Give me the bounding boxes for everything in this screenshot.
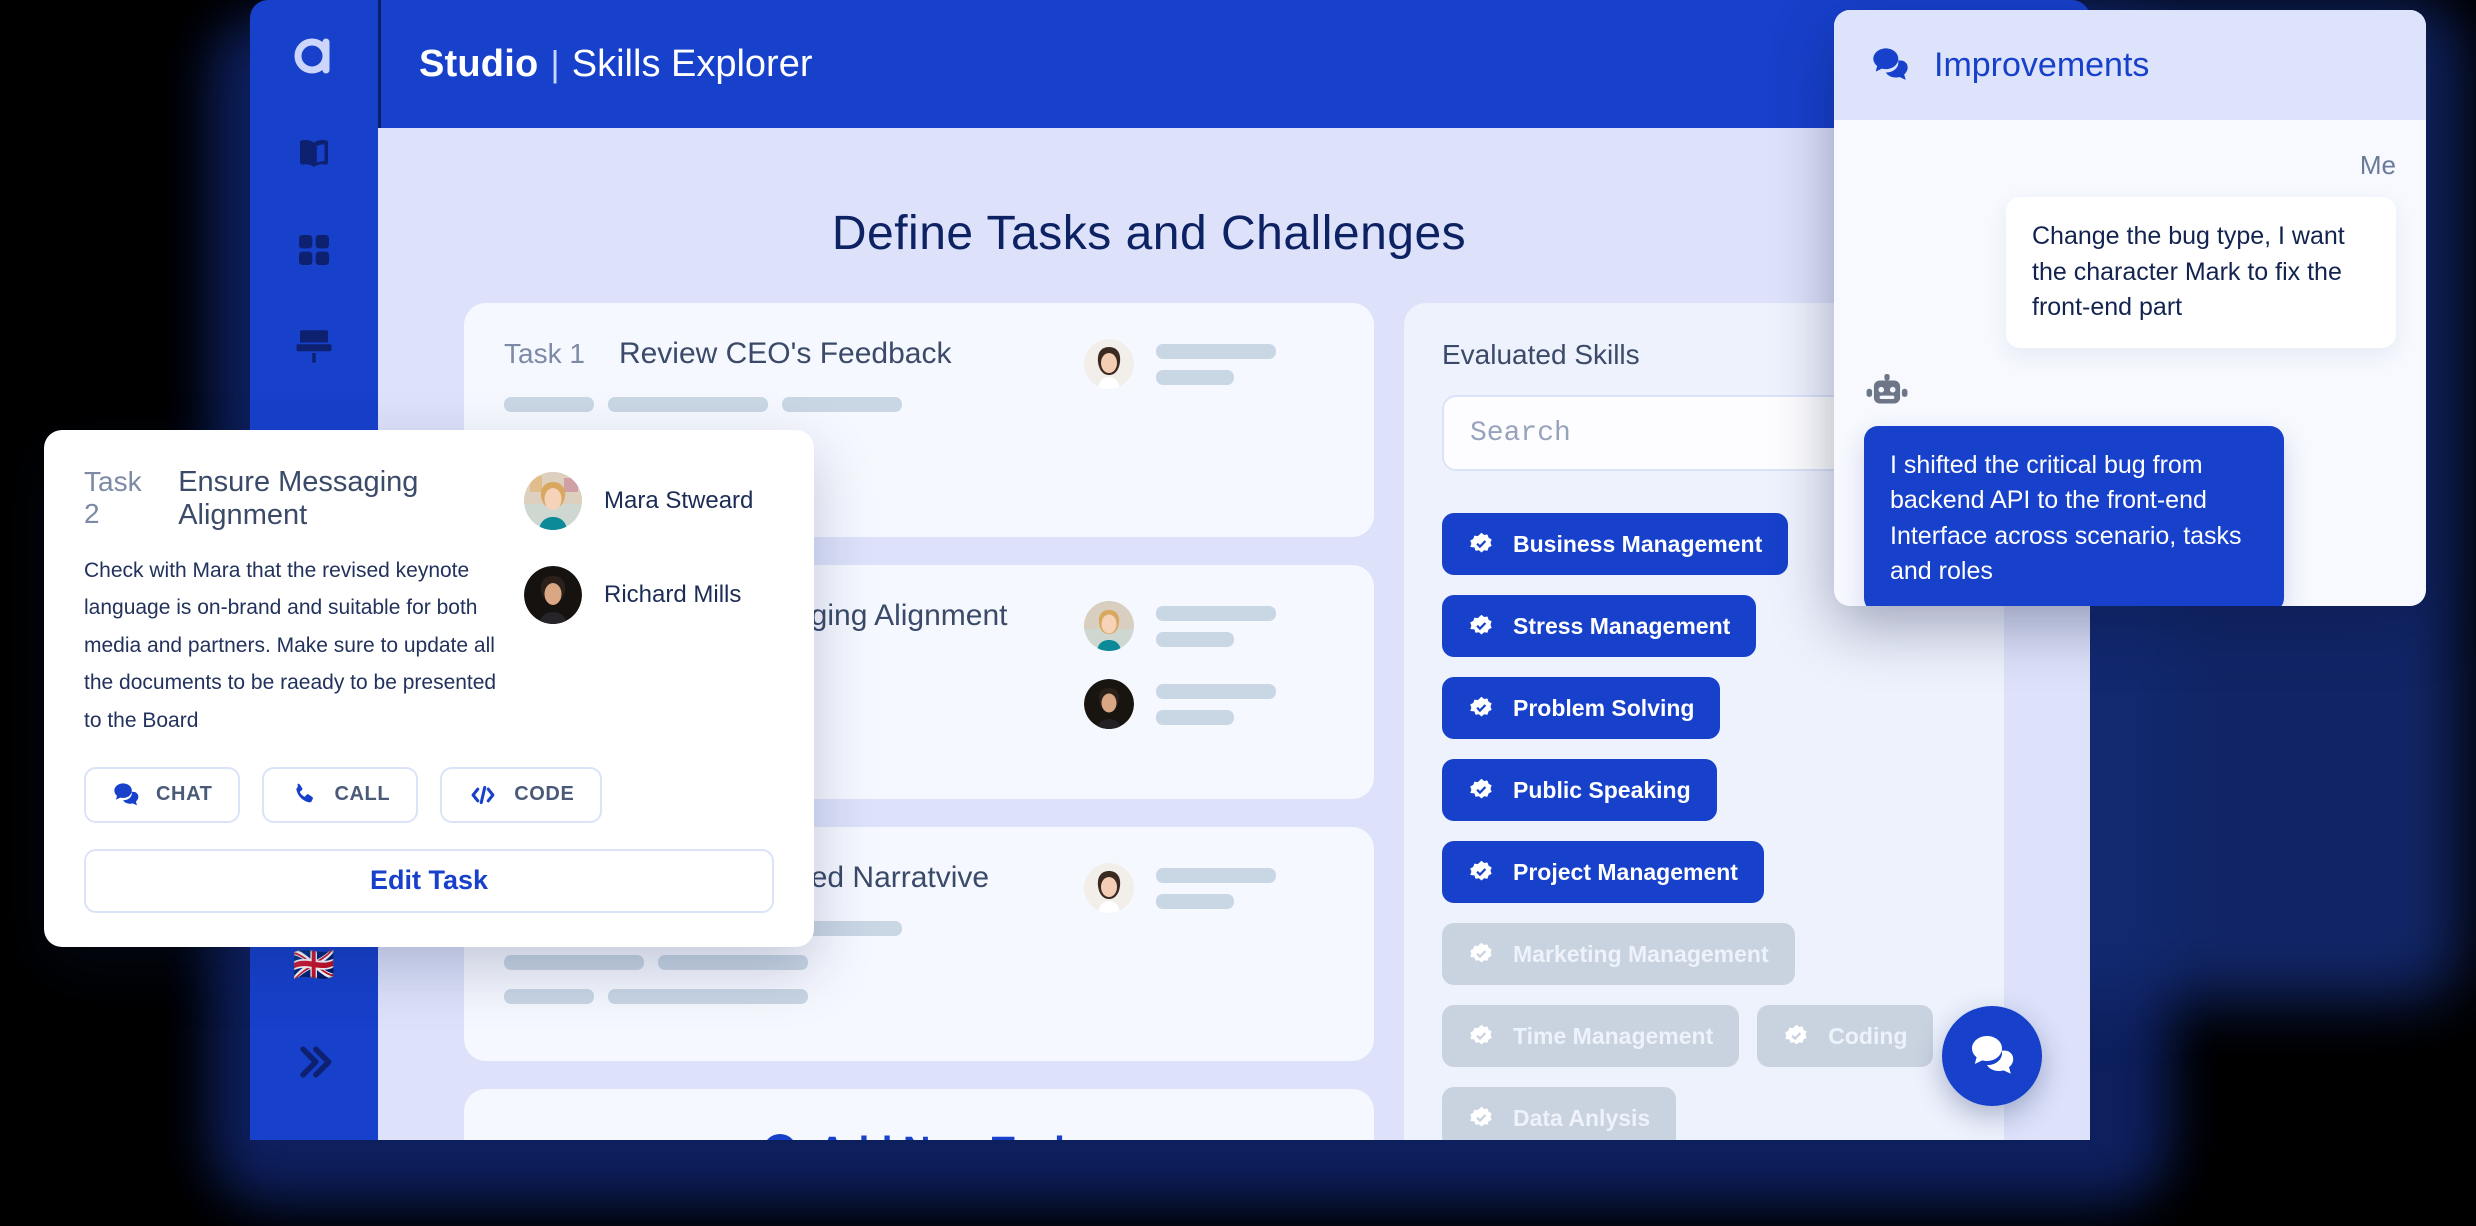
badge-check-icon (1468, 695, 1495, 722)
skill-tag-label: Public Speaking (1513, 777, 1691, 804)
sidebar-item-book[interactable] (290, 130, 338, 178)
skill-tag-list: Business Management Stress Management Pr… (1442, 513, 1966, 1140)
plus-circle-icon: + (763, 1134, 797, 1140)
skill-tag[interactable]: Public Speaking (1442, 759, 1717, 821)
skill-tag-label: Project Management (1513, 859, 1738, 886)
badge-check-icon (1468, 531, 1495, 558)
task-detail-popup: Task 2 Ensure Messaging Alignment Check … (44, 430, 814, 947)
assignee[interactable] (1084, 679, 1334, 729)
section-title: Skills Explorer (572, 43, 813, 86)
skill-tag-label: Problem Solving (1513, 695, 1694, 722)
improvements-title: Improvements (1934, 46, 2149, 85)
skill-tag-label: Coding (1828, 1023, 1907, 1050)
phone-icon (290, 781, 318, 809)
popup-description: Check with Mara that the revised keynote… (84, 552, 504, 739)
skill-tag-label: Marketing Management (1513, 941, 1769, 968)
call-button-label: CALL (334, 783, 390, 806)
badge-check-icon (1468, 1023, 1495, 1050)
skill-tag[interactable]: Business Management (1442, 513, 1788, 575)
title-separator: | (550, 43, 559, 85)
avatar (524, 472, 582, 530)
skill-tag[interactable]: Time Management (1442, 1005, 1739, 1067)
app-name: Studio (419, 43, 538, 86)
task-assignees (1084, 599, 1334, 729)
chat-bubbles-icon (1868, 45, 1912, 85)
task-title: Review CEO's Feedback (619, 337, 952, 371)
call-button[interactable]: CALL (262, 767, 418, 823)
chat-bubbles-icon (112, 781, 140, 809)
avatar (524, 566, 582, 624)
popup-header: Task 2 Ensure Messaging Alignment (84, 466, 504, 532)
popup-people-list: Mara Stweard Richard Mills (524, 466, 774, 739)
assignee-skeleton (1156, 684, 1276, 725)
assignee-skeleton (1156, 606, 1276, 647)
assignee-skeleton (1156, 344, 1276, 385)
search-placeholder: Search (1470, 418, 1571, 449)
sidebar-bottom: 🇬🇧 (250, 948, 378, 1086)
badge-check-icon (1783, 1023, 1810, 1050)
skill-tag-label: Business Management (1513, 531, 1762, 558)
uk-flag-icon[interactable]: 🇬🇧 (293, 948, 335, 982)
skill-tag-label: Stress Management (1513, 613, 1730, 640)
robot-icon (1864, 374, 1910, 410)
chat-fab-button[interactable] (1942, 1006, 2042, 1106)
edit-task-button[interactable]: Edit Task (84, 849, 774, 913)
assignee[interactable] (1084, 863, 1334, 913)
assignee-skeleton (1156, 868, 1276, 909)
code-brackets-icon (468, 781, 498, 809)
improvements-header: Improvements (1834, 10, 2426, 120)
task-assignees (1084, 337, 1334, 389)
sidebar-item-paintbrush[interactable] (290, 322, 338, 370)
code-button-label: CODE (514, 783, 574, 806)
task-header: Task 1 Review CEO's Feedback (504, 337, 1084, 371)
task-assignees (1084, 861, 1334, 913)
badge-check-icon (1468, 613, 1495, 640)
popup-task-number: Task 2 (84, 466, 154, 530)
popup-task-title: Ensure Messaging Alignment (178, 466, 504, 532)
popup-main: Task 2 Ensure Messaging Alignment Check … (84, 466, 524, 739)
chat-button[interactable]: CHAT (84, 767, 240, 823)
badge-check-icon (1468, 777, 1495, 804)
skill-tag-label: Time Management (1513, 1023, 1713, 1050)
skill-tag[interactable]: Problem Solving (1442, 677, 1720, 739)
skill-tag[interactable]: Stress Management (1442, 595, 1756, 657)
message-author-me: Me (1864, 150, 2396, 181)
improvements-panel: Improvements Me Change the bug type, I w… (1834, 10, 2426, 606)
badge-check-icon (1468, 859, 1495, 886)
person-name: Richard Mills (604, 581, 741, 609)
badge-check-icon (1468, 941, 1495, 968)
assignee[interactable] (1084, 601, 1334, 651)
code-button[interactable]: CODE (440, 767, 602, 823)
avatar (1084, 863, 1134, 913)
avatar (1084, 601, 1134, 651)
app-logo[interactable] (280, 22, 348, 90)
screenshot-stage: 🇬🇧 Studio | Skills Explorer Define Tasks… (0, 0, 2476, 1226)
list-item[interactable]: Richard Mills (524, 566, 774, 624)
person-name: Mara Stweard (604, 487, 753, 515)
skill-tag[interactable]: Marketing Management (1442, 923, 1795, 985)
skill-tag[interactable]: Coding (1757, 1005, 1933, 1067)
chat-bubbles-icon (1966, 1032, 2018, 1080)
sidebar-nav (290, 130, 338, 370)
skill-tag-label: Data Anlysis (1513, 1105, 1650, 1132)
assignee[interactable] (1084, 339, 1334, 389)
chat-bubble-user: Change the bug type, I want the characte… (2006, 197, 2396, 348)
task-number: Task 1 (504, 338, 585, 370)
popup-top-row: Task 2 Ensure Messaging Alignment Check … (84, 466, 774, 739)
chat-button-label: CHAT (156, 783, 212, 806)
add-task-label: Add New Task (819, 1130, 1076, 1141)
chevrons-right-icon[interactable] (290, 1038, 338, 1086)
avatar (1084, 679, 1134, 729)
list-item[interactable]: Mara Stweard (524, 472, 774, 530)
avatar (1084, 339, 1134, 389)
chat-messages: Me Change the bug type, I want the chara… (1834, 120, 2426, 606)
badge-check-icon (1468, 1105, 1495, 1132)
popup-actions: CHAT CALL CODE (84, 767, 774, 823)
chat-bubble-bot: I shifted the critical bug from backend … (1864, 426, 2284, 607)
sidebar-item-grid[interactable] (290, 226, 338, 274)
add-task-button[interactable]: + Add New Task (464, 1089, 1374, 1140)
skill-tag[interactable]: Project Management (1442, 841, 1764, 903)
skill-tag[interactable]: Data Anlysis (1442, 1087, 1676, 1140)
